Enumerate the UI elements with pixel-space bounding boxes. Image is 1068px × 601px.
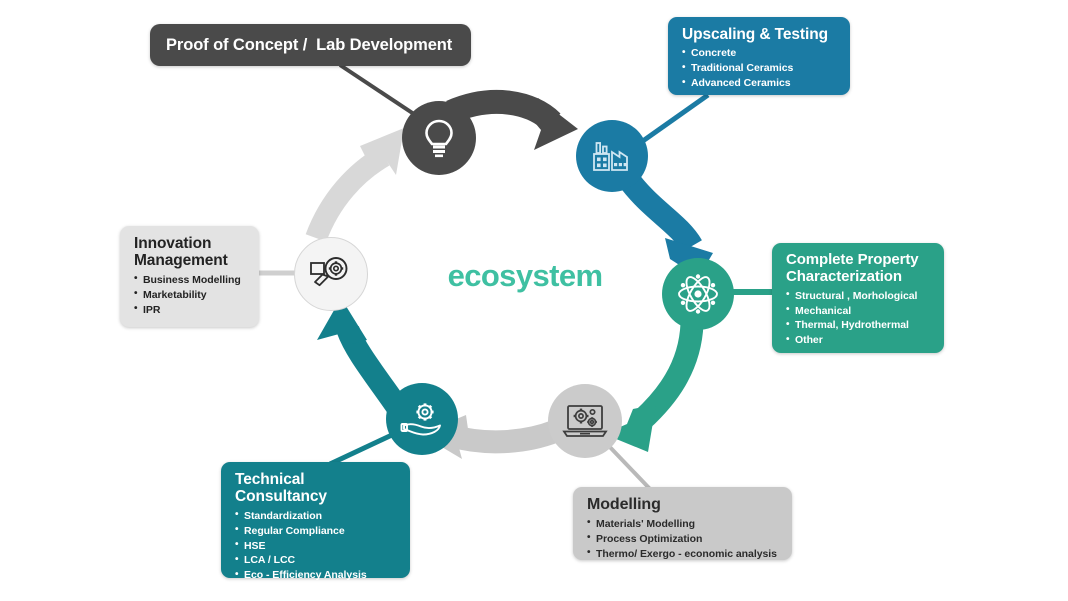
node-upscaling-testing[interactable] bbox=[576, 120, 648, 192]
box-upscaling-testing-list: Concrete Traditional Ceramics Advanced C… bbox=[682, 46, 838, 91]
node-property-characterization[interactable] bbox=[662, 258, 734, 330]
box-technical-consultancy-list: Standardization Regular Compliance HSE L… bbox=[235, 509, 398, 598]
box-upscaling-testing[interactable]: Upscaling & Testing Concrete Traditional… bbox=[668, 17, 850, 95]
arrow-search-to-idea bbox=[316, 128, 404, 238]
list-item: Business Modelling bbox=[134, 273, 247, 288]
box-property-characterization-title: Complete Property Characterization bbox=[786, 252, 932, 286]
magnifier-gear-icon bbox=[309, 255, 353, 293]
list-item: Standardization bbox=[235, 509, 398, 524]
node-modelling[interactable] bbox=[548, 384, 622, 458]
box-proof-of-concept[interactable]: Proof of Concept / Lab Development bbox=[150, 24, 471, 66]
list-item: Eco - Efficiency Analysis bbox=[235, 568, 398, 583]
leader-line-modelling bbox=[606, 443, 650, 489]
box-innovation-management[interactable]: Innovation Management Business Modelling… bbox=[120, 226, 259, 327]
node-innovation-management[interactable] bbox=[294, 237, 368, 311]
list-item: IPR bbox=[134, 303, 247, 318]
box-property-characterization-list: Structural , Morhological Mechanical The… bbox=[786, 289, 932, 349]
leader-line-upscaling bbox=[640, 95, 708, 143]
atom-icon bbox=[677, 273, 719, 315]
box-innovation-management-title: Innovation Management bbox=[134, 235, 247, 270]
list-item: Regular Compliance bbox=[235, 524, 398, 539]
node-technical-consultancy[interactable] bbox=[386, 383, 458, 455]
list-item: Consultancy for nZEB bbox=[235, 583, 398, 598]
box-modelling-title: Modelling bbox=[587, 496, 780, 514]
list-item: LCA / LCC bbox=[235, 553, 398, 568]
list-item: Marketability bbox=[134, 288, 247, 303]
list-item: HSE bbox=[235, 539, 398, 554]
lightbulb-icon bbox=[422, 118, 456, 158]
hand-holding-gear-icon bbox=[400, 399, 444, 439]
arrow-hand-to-search bbox=[317, 298, 398, 408]
list-item: Structural , Morhological bbox=[786, 289, 932, 304]
factory-icon bbox=[591, 139, 633, 173]
list-item: Concrete bbox=[682, 46, 838, 61]
list-item: Other bbox=[786, 333, 932, 348]
box-modelling[interactable]: Modelling Materials' Modelling Process O… bbox=[573, 487, 792, 560]
box-proof-of-concept-title: Proof of Concept / Lab Development bbox=[166, 36, 452, 54]
center-label: ecosystem bbox=[420, 258, 630, 294]
list-item: Thermal, Hydrothermal bbox=[786, 318, 932, 333]
laptop-gears-icon bbox=[562, 403, 608, 439]
box-modelling-list: Materials' Modelling Process Optimizatio… bbox=[587, 517, 780, 562]
list-item: Thermo/ Exergo - economic analysis bbox=[587, 547, 780, 562]
list-item: Advanced Ceramics bbox=[682, 76, 838, 91]
list-item: Traditional Ceramics bbox=[682, 61, 838, 76]
box-upscaling-testing-title: Upscaling & Testing bbox=[682, 26, 838, 43]
list-item: Mechanical bbox=[786, 304, 932, 319]
box-property-characterization[interactable]: Complete Property Characterization Struc… bbox=[772, 243, 944, 353]
list-item: Materials' Modelling bbox=[587, 517, 780, 532]
box-innovation-management-list: Business Modelling Marketability IPR bbox=[134, 273, 247, 318]
list-item: Process Optimization bbox=[587, 532, 780, 547]
box-technical-consultancy[interactable]: Technical Consultancy Standardization Re… bbox=[221, 462, 410, 578]
node-proof-of-concept[interactable] bbox=[402, 101, 476, 175]
ecosystem-diagram: ecosystem bbox=[0, 0, 1068, 601]
box-technical-consultancy-title: Technical Consultancy bbox=[235, 471, 398, 506]
